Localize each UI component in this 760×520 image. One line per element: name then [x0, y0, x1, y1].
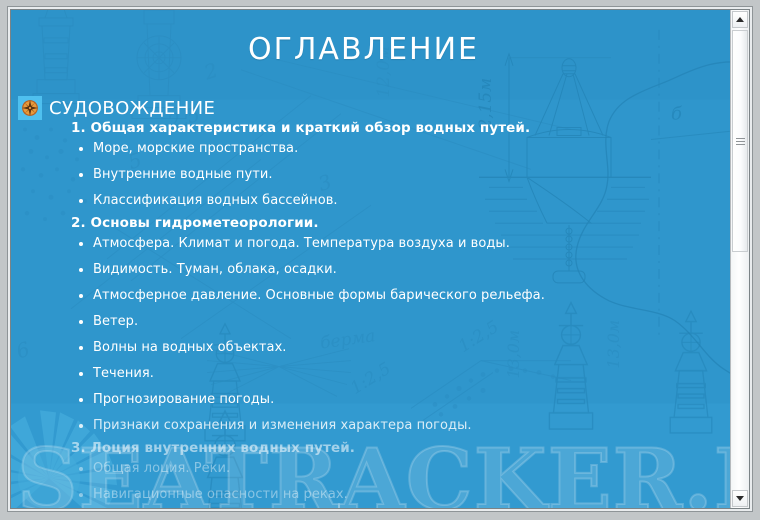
bullet-icon [79, 346, 83, 350]
scroll-thumb[interactable] [732, 30, 748, 252]
table-of-contents: 1. Общая характеристика и краткий обзор … [71, 120, 720, 508]
bullet-icon [79, 398, 83, 402]
window-frame-inner: 2 2,5 3 6 5 [10, 9, 750, 509]
bullet-icon [79, 294, 83, 298]
window-frame-outer: 2 2,5 3 6 5 [7, 6, 753, 512]
bullet-icon [79, 424, 83, 428]
toc-item-label: Внутренние водные пути. [93, 167, 273, 182]
scroll-thumb-grip-icon [736, 138, 745, 145]
bullet-icon [79, 147, 83, 151]
toc-item[interactable]: Общая лоция. Реки. [71, 461, 720, 476]
toc-chapter-heading[interactable]: 2. Основы гидрометеорологии. [71, 215, 720, 231]
toc-item[interactable]: Классификация водных бассейнов. [71, 193, 720, 208]
toc-item-label: Атмосфера. Климат и погода. Температура … [93, 236, 510, 251]
toc-item-label: Ветер. [93, 314, 138, 329]
toc-item[interactable]: Течения. [71, 366, 720, 381]
scroll-down-button[interactable] [732, 490, 748, 507]
bullet-icon [79, 320, 83, 324]
bullet-icon [79, 199, 83, 203]
toc-item[interactable]: Внутренние водные пути. [71, 167, 720, 182]
scroll-up-arrow-icon [736, 17, 744, 22]
bullet-icon [79, 242, 83, 246]
page-title: ОГЛАВЛЕНИЕ [11, 32, 730, 67]
content-viewport: ОГЛАВЛЕНИЕ [11, 10, 730, 508]
toc-item[interactable]: Атмосфера. Климат и погода. Температура … [71, 236, 720, 251]
bullet-icon [79, 493, 83, 497]
scroll-down-arrow-icon [736, 496, 744, 501]
toc-item[interactable]: Признаки сохранения и изменения характер… [71, 418, 720, 433]
toc-item-label: Видимость. Туман, облака, осадки. [93, 262, 337, 277]
section-title: СУДОВОЖДЕНИЕ [49, 98, 215, 119]
section-header: СУДОВОЖДЕНИЕ [18, 96, 215, 120]
toc-item[interactable]: Навигационные опасности на реках. [71, 487, 720, 502]
bullet-icon [79, 268, 83, 272]
toc-item-label: Волны на водных объектах. [93, 340, 287, 355]
application-window: 2 2,5 3 6 5 [0, 0, 760, 520]
toc-item-label: Прогнозирование погоды. [93, 392, 274, 407]
bullet-icon [79, 173, 83, 177]
toc-item[interactable]: Ветер. [71, 314, 720, 329]
toc-item-label: Общая лоция. Реки. [93, 461, 230, 476]
toc-item-label: Навигационные опасности на реках. [93, 487, 348, 502]
toc-item[interactable]: Волны на водных объектах. [71, 340, 720, 355]
toc-item-label: Атмосферное давление. Основные формы бар… [93, 288, 545, 303]
toc-chapter-heading[interactable]: 3. Лоция внутренних водных путей. [71, 440, 720, 456]
toc-item-label: Море, морские пространства. [93, 141, 298, 156]
toc-chapter-heading[interactable]: 1. Общая характеристика и краткий обзор … [71, 120, 720, 136]
toc-item-label: Признаки сохранения и изменения характер… [93, 418, 472, 433]
compass-rose-icon [18, 96, 42, 120]
bullet-icon [79, 372, 83, 376]
vertical-scrollbar[interactable] [730, 10, 749, 508]
bullet-icon [79, 467, 83, 471]
toc-item[interactable]: Атмосферное давление. Основные формы бар… [71, 288, 720, 303]
scroll-up-button[interactable] [732, 11, 748, 28]
toc-item-label: Классификация водных бассейнов. [93, 193, 338, 208]
toc-item[interactable]: Прогнозирование погоды. [71, 392, 720, 407]
toc-item-label: Течения. [93, 366, 154, 381]
toc-item[interactable]: Море, морские пространства. [71, 141, 720, 156]
toc-item[interactable]: Видимость. Туман, облака, осадки. [71, 262, 720, 277]
